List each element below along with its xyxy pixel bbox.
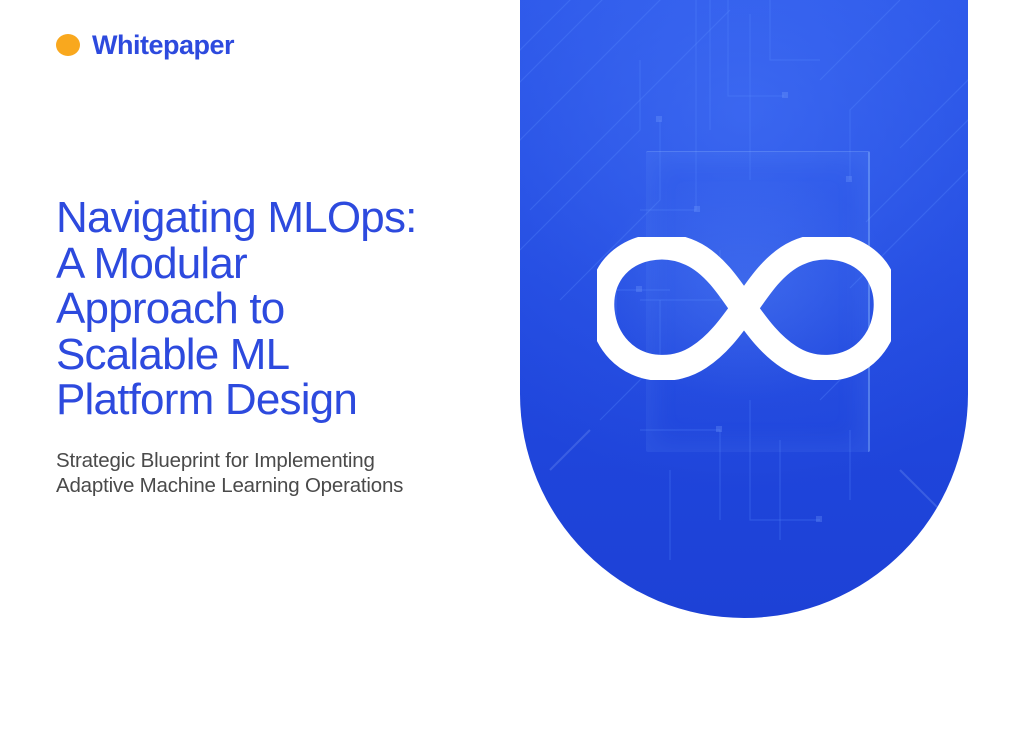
infinity-icon-svg	[597, 237, 891, 380]
hero-arch-panel	[520, 0, 968, 618]
filled-circle-icon	[56, 34, 80, 56]
page-subtitle: Strategic Blueprint for Implementing Ada…	[56, 448, 486, 498]
page-title: Navigating MLOps: A Modular Approach to …	[56, 195, 476, 423]
cover-text-column: Whitepaper Navigating MLOps: A Modular A…	[56, 0, 496, 730]
document-type-label: Whitepaper	[92, 32, 234, 59]
infinity-icon	[597, 237, 891, 380]
document-type-eyebrow: Whitepaper	[56, 28, 234, 62]
whitepaper-cover: Whitepaper Navigating MLOps: A Modular A…	[0, 0, 1024, 730]
